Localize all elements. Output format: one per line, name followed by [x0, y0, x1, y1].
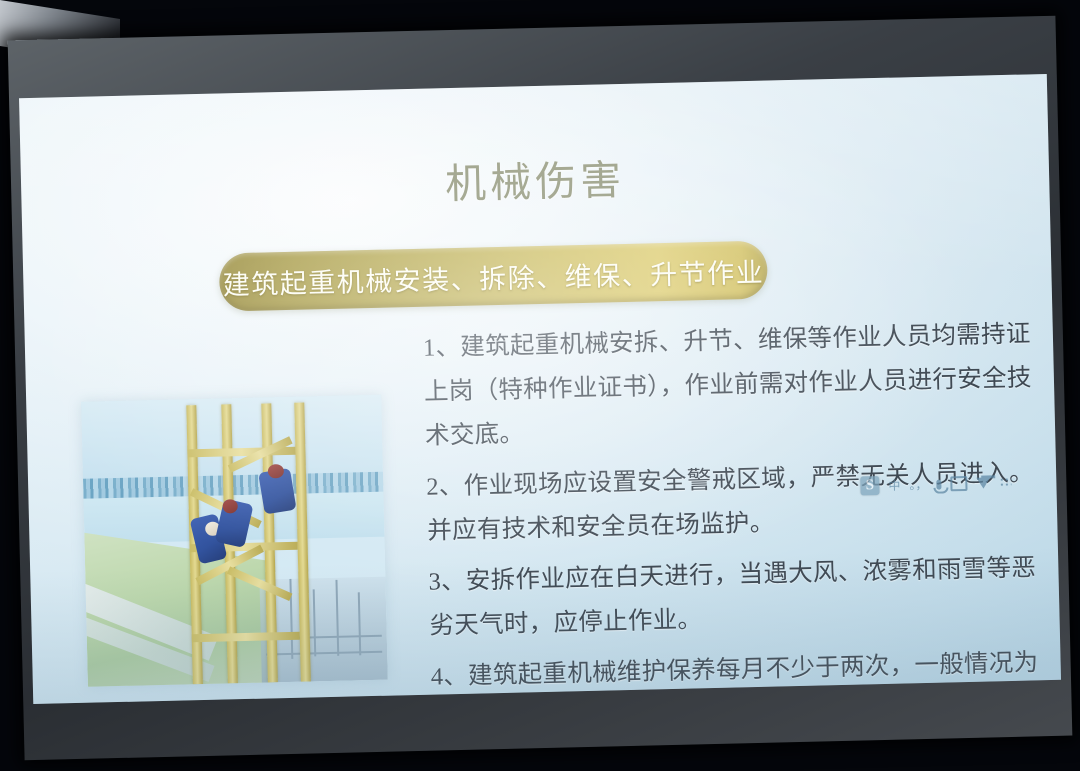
chinese-mode-icon[interactable]: 中 [888, 479, 900, 491]
list-item: 3、安拆作业应在白天进行，当遇大风、浓雾和雨雪等恶劣天气时，应停止作业。 [428, 546, 1042, 648]
worker-helmet-icon [222, 499, 237, 513]
tower-crane-illustration [81, 395, 388, 687]
section-banner-label: 建筑起重机械安装、拆除、维保、升节作业 [222, 250, 764, 302]
projector-screen-photo: 机械伤害 建筑起重机械安装、拆除、维保、升节作业 1、建筑起重机械安拆、升节、维… [0, 0, 1080, 771]
crane-mast [183, 402, 316, 684]
list-item: 1、建筑起重机械安拆、升节、维保等作业人员均需持证上岗（特种作业证书），作业前需… [423, 312, 1038, 458]
section-banner: 建筑起重机械安装、拆除、维保、升节作业 [219, 241, 768, 312]
sogou-logo-icon[interactable]: S [860, 476, 879, 495]
presentation-slide: 机械伤害 建筑起重机械安装、拆除、维保、升节作业 1、建筑起重机械安拆、升节、维… [19, 74, 1061, 704]
ime-toolbar[interactable]: S 中 。， [860, 473, 1011, 496]
list-item: 2、作业现场应设置安全警戒区域，严禁无关人员进入。并应有技术和安全员在场监护。 [426, 451, 1040, 553]
soft-keyboard-icon[interactable] [950, 476, 967, 491]
toolbox-icon[interactable] [976, 477, 990, 488]
page-title: 机械伤害 [20, 136, 1049, 220]
microphone-icon[interactable] [936, 479, 941, 489]
punctuation-icon[interactable]: 。， [909, 478, 927, 490]
more-dots-icon[interactable] [999, 477, 1011, 488]
bullet-list: 1、建筑起重机械安拆、升节、维保等作业人员均需持证上岗（特种作业证书），作业前需… [423, 312, 1046, 704]
projection-screen: 机械伤害 建筑起重机械安装、拆除、维保、升节作业 1、建筑起重机械安拆、升节、维… [8, 16, 1073, 760]
